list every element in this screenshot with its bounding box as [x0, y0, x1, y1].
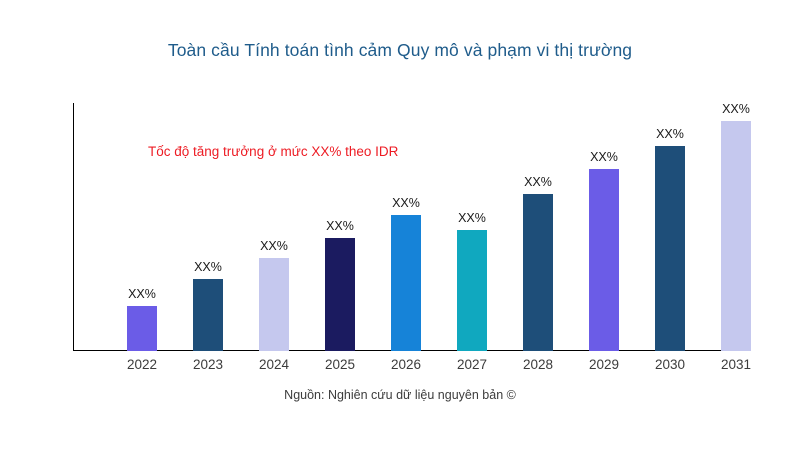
x-tick-label-2027: 2027	[439, 357, 505, 372]
bar-group: XX%	[175, 95, 241, 351]
bar-2028[interactable]	[523, 194, 553, 351]
bar-value-label-2026: XX%	[373, 196, 439, 210]
bar-value-label-2025: XX%	[307, 219, 373, 233]
bar-2024[interactable]	[259, 258, 289, 351]
bar-group: XX%	[109, 95, 175, 351]
x-tick-label-2029: 2029	[571, 357, 637, 372]
bar-value-label-2031: XX%	[703, 102, 769, 116]
x-tick-label-2028: 2028	[505, 357, 571, 372]
bar-group: XX%	[703, 95, 769, 351]
x-tick-label-2031: 2031	[703, 357, 769, 372]
bar-2022[interactable]	[127, 306, 157, 351]
bar-value-label-2030: XX%	[637, 127, 703, 141]
bar-value-label-2028: XX%	[505, 175, 571, 189]
bar-group: XX%	[241, 95, 307, 351]
x-tick-label-2022: 2022	[109, 357, 175, 372]
bar-group: XX%	[505, 95, 571, 351]
x-tick-label-2023: 2023	[175, 357, 241, 372]
x-tick-label-2030: 2030	[637, 357, 703, 372]
x-tick-label-2025: 2025	[307, 357, 373, 372]
bar-2030[interactable]	[655, 146, 685, 351]
bar-group: XX%	[637, 95, 703, 351]
bar-2023[interactable]	[193, 279, 223, 351]
plot-area: XX%XX%XX%XX%XX%XX%XX%XX%XX%XX%	[73, 95, 800, 351]
bar-value-label-2024: XX%	[241, 239, 307, 253]
bar-value-label-2022: XX%	[109, 287, 175, 301]
x-tick-label-2026: 2026	[373, 357, 439, 372]
bar-2031[interactable]	[721, 121, 751, 351]
source-note: Nguồn: Nghiên cứu dữ liệu nguyên bản ©	[0, 388, 800, 402]
bar-value-label-2029: XX%	[571, 150, 637, 164]
bar-value-label-2027: XX%	[439, 211, 505, 225]
bar-group: XX%	[307, 95, 373, 351]
bar-group: XX%	[373, 95, 439, 351]
bar-2027[interactable]	[457, 230, 487, 351]
x-tick-label-2024: 2024	[241, 357, 307, 372]
bar-value-label-2023: XX%	[175, 260, 241, 274]
bar-2026[interactable]	[391, 215, 421, 351]
bar-2029[interactable]	[589, 169, 619, 351]
chart-title: Toàn cầu Tính toán tình cảm Quy mô và ph…	[0, 40, 800, 61]
bar-group: XX%	[571, 95, 637, 351]
bar-2025[interactable]	[325, 238, 355, 351]
bar-group: XX%	[439, 95, 505, 351]
chart-container: Toàn cầu Tính toán tình cảm Quy mô và ph…	[0, 0, 800, 450]
